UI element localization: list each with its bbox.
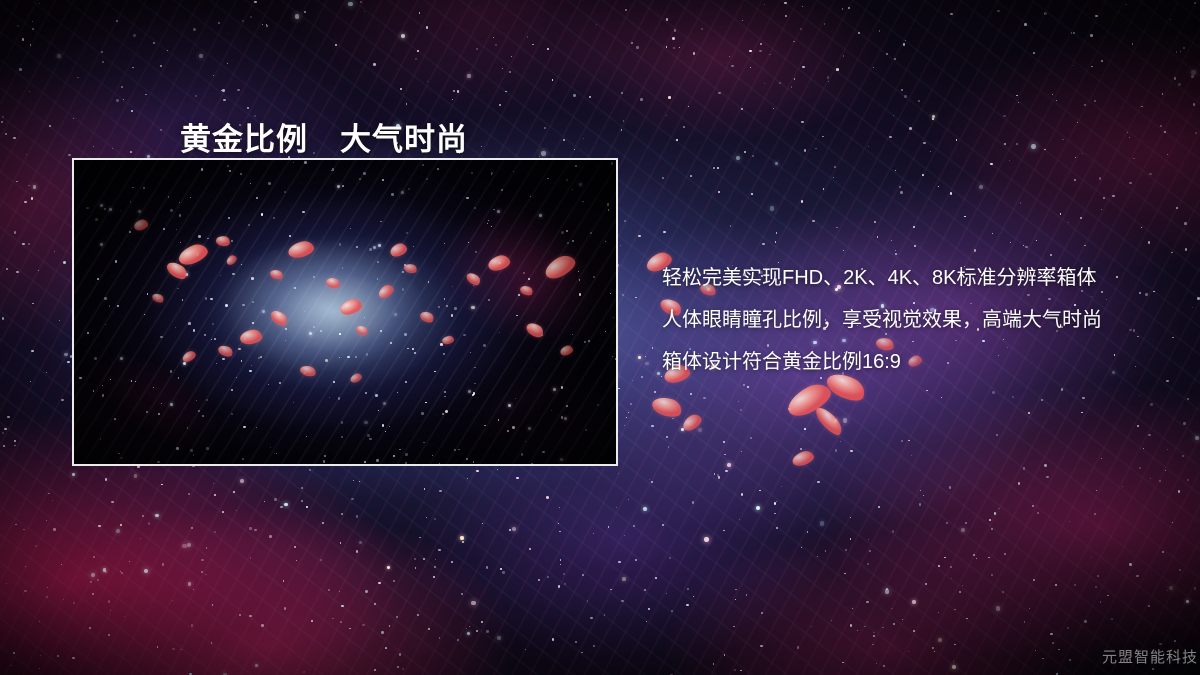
petal — [791, 449, 816, 468]
petal — [650, 394, 684, 420]
description-block: 轻松完美实现FHD、2K、4K、8K标准分辨率箱体 人体眼睛瞳孔比例，享受视觉效… — [662, 257, 1182, 383]
preview-frame-content — [74, 160, 616, 464]
page-title: 黄金比例 大气时尚 — [180, 123, 468, 157]
description-line: 轻松完美实现FHD、2K、4K、8K标准分辨率箱体 — [662, 257, 1182, 299]
preview-vignette — [74, 160, 616, 464]
description-line: 人体眼睛瞳孔比例，享受视觉效果，高端大气时尚 — [662, 299, 1182, 341]
petal — [680, 412, 704, 434]
petal — [812, 404, 845, 439]
preview-frame — [72, 158, 618, 466]
description-line: 箱体设计符合黄金比例16:9 — [662, 341, 1182, 383]
watermark-label: 元盟智能科技 — [1102, 646, 1198, 667]
slide-canvas: 黄金比例 大气时尚 轻松完美实现FHD、2K、4K、8K标准分辨率箱体 人体眼睛… — [0, 0, 1200, 675]
